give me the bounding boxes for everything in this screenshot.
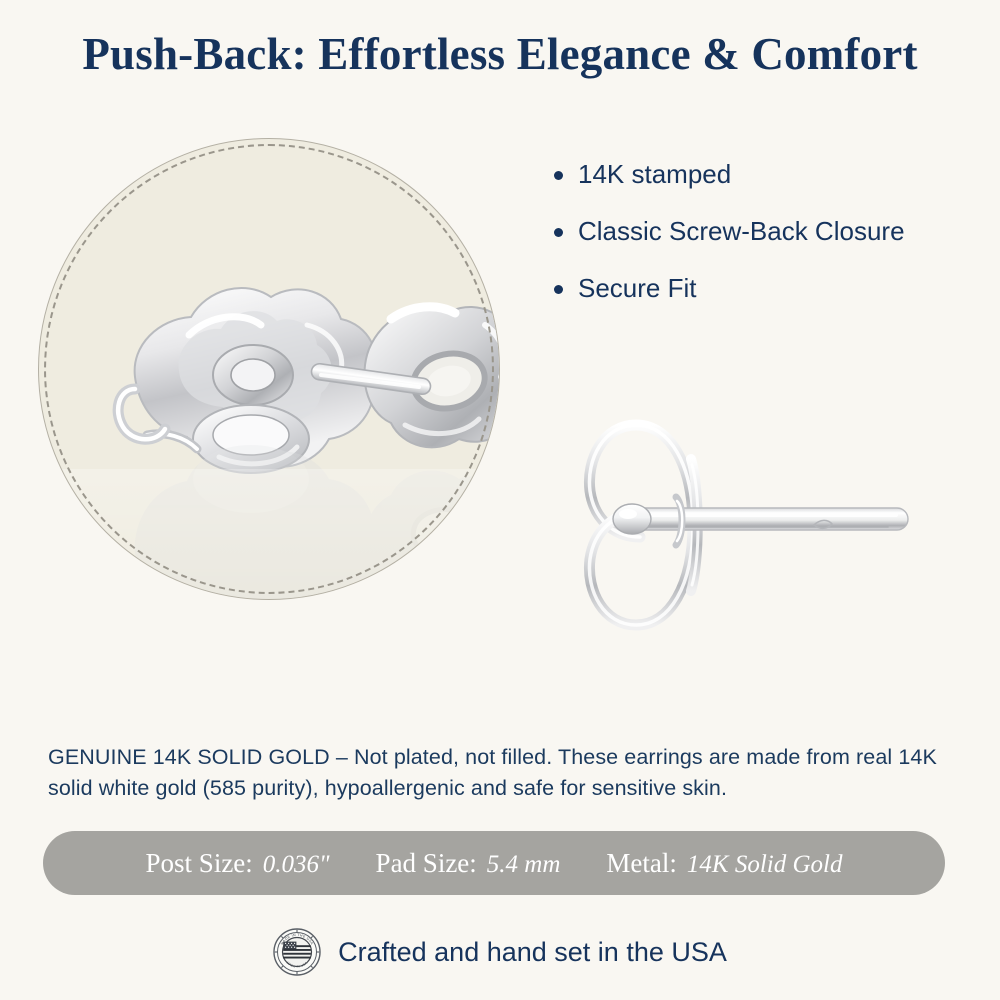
product-description: GENUINE 14K SOLID GOLD – Not plated, not… xyxy=(48,742,953,804)
butterfly-back-illustration xyxy=(528,385,928,665)
bullet-dot-icon xyxy=(554,171,563,180)
feature-label: Secure Fit xyxy=(578,273,697,303)
spec-label: Metal: xyxy=(606,848,676,879)
spec-metal: Metal: 14K Solid Gold xyxy=(606,848,842,879)
spec-pad-size: Pad Size: 5.4 mm xyxy=(376,848,561,879)
feature-list: 14K stamped Classic Screw-Back Closure S… xyxy=(548,158,988,329)
earring-backs-illustration xyxy=(39,139,500,600)
bullet-dot-icon xyxy=(554,228,563,237)
spec-value: 5.4 mm xyxy=(487,851,561,879)
spec-label: Pad Size: xyxy=(376,848,477,879)
product-photo-image xyxy=(39,139,499,599)
page-title: Push-Back: Effortless Elegance & Comfort xyxy=(0,28,1000,80)
bullet-dot-icon xyxy=(554,285,563,294)
made-in-usa-row: MADE IN THE USA MADE IN USA Crafted and … xyxy=(0,928,1000,976)
usa-flag-seal-icon: MADE IN THE USA MADE IN USA xyxy=(273,928,321,976)
earring-post-diagram xyxy=(528,385,928,665)
spec-label: Post Size: xyxy=(146,848,253,879)
feature-label: Classic Screw-Back Closure xyxy=(578,216,905,246)
made-in-usa-label: Crafted and hand set in the USA xyxy=(338,937,727,968)
product-photo-circle xyxy=(38,138,500,600)
spec-post-size: Post Size: 0.036" xyxy=(146,848,330,879)
spec-bar: Post Size: 0.036" Pad Size: 5.4 mm Metal… xyxy=(43,831,945,895)
list-item: 14K stamped xyxy=(548,158,988,191)
spec-value: 0.036" xyxy=(263,851,330,879)
list-item: Classic Screw-Back Closure xyxy=(548,215,988,248)
list-item: Secure Fit xyxy=(548,272,988,305)
feature-label: 14K stamped xyxy=(578,159,731,189)
spec-value: 14K Solid Gold xyxy=(687,851,843,879)
